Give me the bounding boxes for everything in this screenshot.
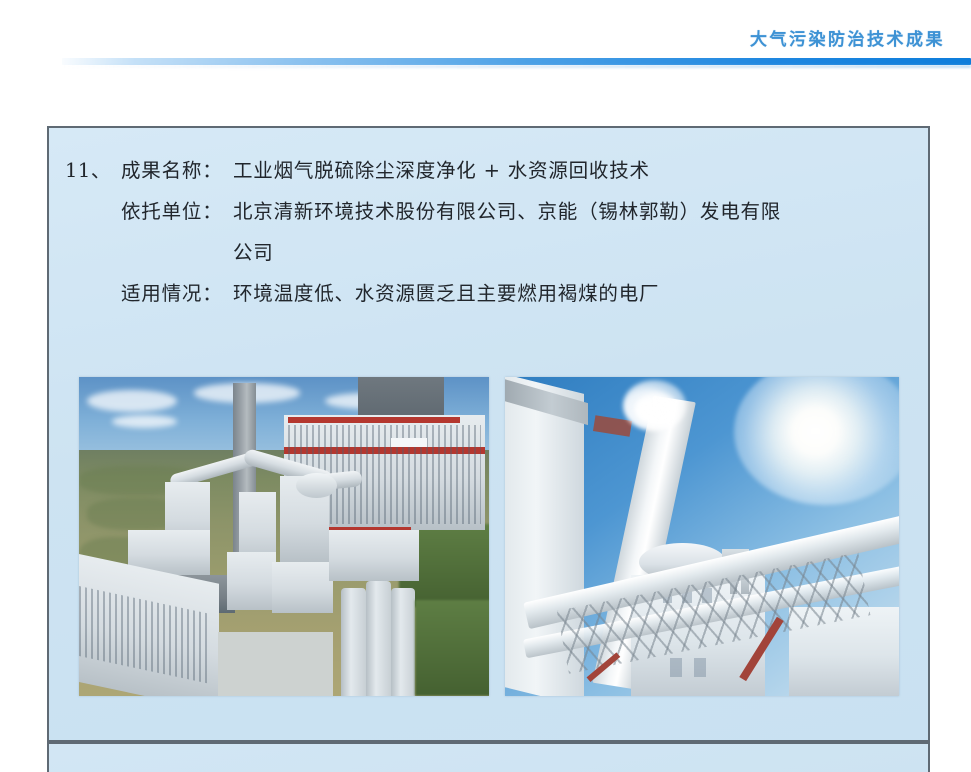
plant-aerial-canvas	[79, 377, 489, 696]
figure-plant-aerial	[79, 377, 489, 696]
steam-plume	[635, 393, 678, 425]
entry-value-unit-continuation: 公司	[65, 232, 274, 273]
figure-stack-upward	[505, 377, 899, 696]
entry-value-unit: 北京清新环境技术股份有限公司、京能（锡林郭勒）发电有限	[233, 191, 913, 232]
figure-row	[79, 377, 902, 697]
entry-line-application: 适用情况： 环境温度低、水资源匮乏且主要燃用褐煤的电厂	[65, 273, 913, 314]
entry-index: 11、	[65, 150, 121, 191]
entry-label-name: 成果名称：	[121, 150, 233, 191]
page-header: 大气污染防治技术成果	[0, 0, 971, 72]
entry-text-block: 11、 成果名称： 工业烟气脱硫除尘深度净化 + 水资源回收技术 依托单位： 北…	[65, 150, 913, 314]
window	[670, 658, 682, 677]
entry-label-application: 适用情况：	[121, 273, 233, 314]
silo	[341, 588, 366, 696]
entry-label-unit: 依托单位：	[121, 191, 233, 232]
cloud-shape	[87, 390, 177, 412]
page-header-title: 大气污染防治技术成果	[750, 25, 945, 50]
yard	[218, 632, 333, 696]
entry-line-name: 11、 成果名称： 工业烟气脱硫除尘深度净化 + 水资源回收技术	[65, 150, 913, 191]
stack-upward-canvas	[505, 377, 899, 696]
entry-value-application: 环境温度低、水资源匮乏且主要燃用褐煤的电厂	[233, 273, 913, 314]
roof-trim	[288, 417, 460, 423]
silo	[391, 588, 416, 696]
entry-line-unit-continued: 公司	[65, 232, 913, 273]
content-panel-next	[47, 742, 930, 772]
header-divider-shadow	[62, 65, 971, 68]
silo	[366, 581, 391, 696]
window	[694, 658, 706, 677]
building-block	[272, 562, 334, 613]
building-block	[329, 530, 419, 581]
cloud-shape	[112, 415, 178, 428]
wall-sign	[391, 438, 428, 448]
greenbelt	[415, 600, 489, 696]
header-divider-bar	[62, 58, 971, 65]
entry-value-name: 工业烟气脱硫除尘深度净化 + 水资源回收技术	[233, 150, 913, 191]
building-block	[227, 552, 276, 609]
content-panel: 11、 成果名称： 工业烟气脱硫除尘深度净化 + 水资源回收技术 依托单位： 北…	[47, 126, 930, 742]
entry-line-unit: 依托单位： 北京清新环境技术股份有限公司、京能（锡林郭勒）发电有限	[65, 191, 913, 232]
